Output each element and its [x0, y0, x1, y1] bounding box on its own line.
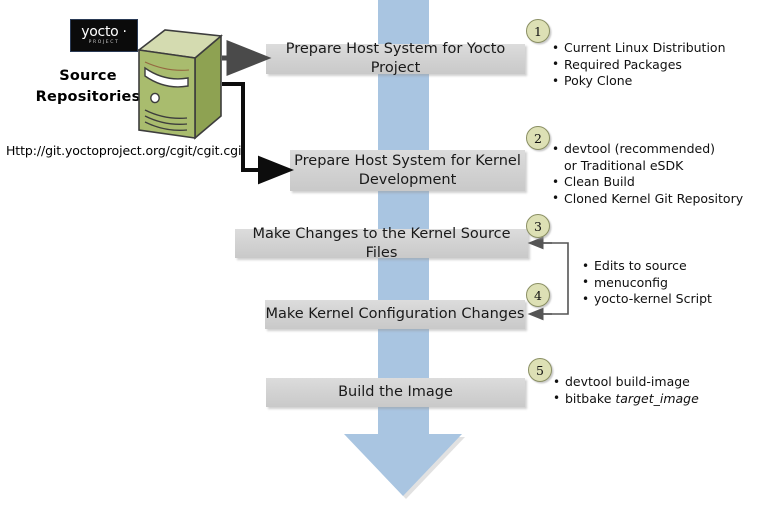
step-badge-1: 1	[526, 19, 550, 43]
source-label-line2: Repositories	[28, 87, 148, 108]
step-badge-1-number: 1	[534, 24, 542, 39]
step-box-1-label: Prepare Host System for Yocto Project	[266, 40, 525, 78]
step-badge-2: 2	[526, 126, 550, 150]
step-box-2[interactable]: Prepare Host System for Kernel Developme…	[290, 150, 525, 191]
step-box-2-label: Prepare Host System for Kernel Developme…	[294, 152, 521, 190]
step-1-bullets: Current Linux Distribution Required Pack…	[552, 40, 726, 90]
step-box-5-label: Build the Image	[338, 383, 453, 402]
list-item: Edits to source	[582, 258, 712, 275]
source-repository-url: Http://git.yoctoproject.org/cgit/cgit.cg…	[6, 143, 241, 158]
list-item: devtool (recommended) or Traditional eSD…	[552, 141, 729, 174]
list-item: yocto-kernel Script	[582, 291, 712, 308]
step-box-3[interactable]: Make Changes to the Kernel Source Files	[235, 229, 528, 258]
yocto-project-logo: yocto · PROJECT	[70, 19, 138, 52]
step-badge-2-number: 2	[534, 131, 542, 146]
step-box-1[interactable]: Prepare Host System for Yocto Project	[266, 44, 525, 74]
step-box-4[interactable]: Make Kernel Configuration Changes	[265, 300, 525, 329]
list-item-bitbake: bitbake target_image	[553, 391, 699, 408]
server-icon	[133, 28, 225, 140]
source-label-line1: Source	[28, 66, 148, 87]
bitbake-command: bitbake	[565, 391, 615, 406]
list-item: devtool build-image	[553, 374, 699, 391]
list-item: Clean Build	[552, 174, 743, 191]
step-badge-3: 3	[526, 214, 550, 238]
source-repositories-label: Source Repositories	[28, 66, 148, 108]
logo-wordmark: yocto ·	[81, 25, 126, 39]
list-item: menuconfig	[582, 275, 712, 292]
steps-3-4-bullets: Edits to source menuconfig yocto-kernel …	[582, 258, 712, 308]
step-badge-5-number: 5	[536, 363, 544, 378]
step-box-2-label-line1: Prepare Host System for Kernel	[294, 153, 521, 169]
step-badge-4-number: 4	[534, 288, 542, 303]
step-box-5[interactable]: Build the Image	[266, 378, 525, 407]
workflow-diagram: yocto · PROJECT Source Repositories Http…	[0, 0, 769, 517]
step-box-4-label: Make Kernel Configuration Changes	[266, 305, 525, 324]
logo-subtitle: PROJECT	[89, 41, 120, 46]
step-badge-5: 5	[528, 358, 552, 382]
step-box-2-label-line2: Development	[359, 172, 457, 188]
step-box-3-label: Make Changes to the Kernel Source Files	[235, 225, 528, 263]
step-badge-3-number: 3	[534, 219, 542, 234]
step-badge-4: 4	[526, 283, 550, 307]
bitbake-target-arg: target_image	[615, 391, 698, 406]
list-item: Current Linux Distribution	[552, 40, 726, 57]
list-item: Poky Clone	[552, 73, 726, 90]
step-5-bullets: devtool build-image bitbake target_image	[553, 374, 699, 407]
step-2-bullets: devtool (recommended) or Traditional eSD…	[552, 141, 743, 207]
list-item: Cloned Kernel Git Repository	[552, 191, 743, 208]
list-item: Required Packages	[552, 57, 726, 74]
flow-arrow-head	[344, 434, 462, 496]
